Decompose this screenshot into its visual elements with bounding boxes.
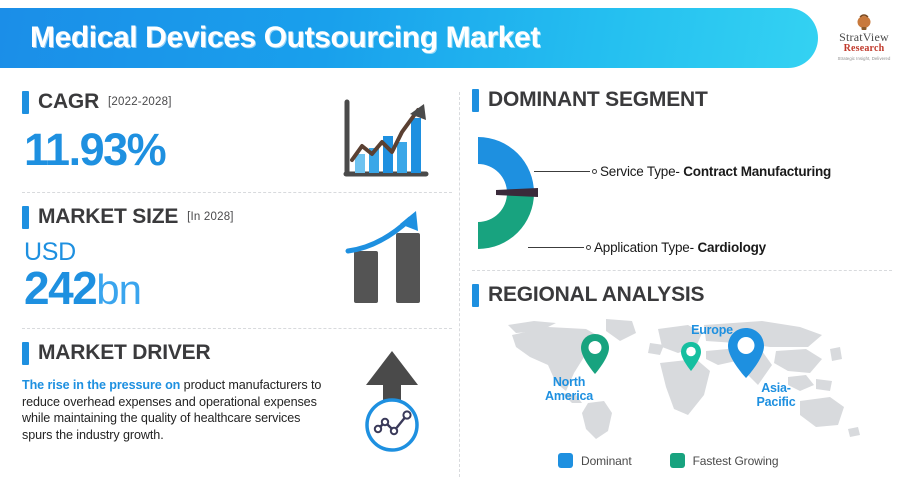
market-size-unit: bn (96, 266, 141, 313)
dominant-row-service-type: Service Type- Contract Manufacturing (534, 164, 831, 179)
logo-tagline: Strategic Insight, Delivered (826, 55, 902, 62)
left-column: CAGR [2022-2028] 11.93% MARKET SIZE [In … (22, 80, 452, 480)
regional-analysis-heading: REGIONAL ANALYSIS (472, 283, 892, 307)
legend-swatch-fastest-growing (670, 453, 685, 468)
dominant-segment-title: DOMINANT SEGMENT (488, 88, 708, 112)
market-size-amount: 242 (24, 262, 96, 314)
up-arrow-analytics-icon (352, 347, 432, 457)
growth-bar-chart-icon (338, 98, 430, 188)
regional-analysis-section: REGIONAL ANALYSIS (472, 271, 892, 471)
application-type-value: Cardiology (697, 240, 766, 255)
leader-line (528, 247, 584, 248)
legend-label-dominant: Dominant (581, 454, 632, 468)
accent-bar (22, 91, 29, 114)
regional-analysis-title: REGIONAL ANALYSIS (488, 283, 704, 307)
bar-growth-arrow-icon (338, 207, 438, 312)
region-label-line1: Asia- (761, 381, 791, 395)
legend-label-fastest-growing: Fastest Growing (693, 454, 779, 468)
leader-dot (586, 245, 591, 250)
market-driver-text: The rise in the pressure on product manu… (22, 377, 322, 443)
accent-bar (22, 342, 29, 365)
region-label-asia-pacific: Asia- Pacific (736, 381, 816, 409)
market-driver-title: MARKET DRIVER (38, 341, 210, 365)
logo-name: StratView (826, 31, 902, 43)
cagr-title: CAGR (38, 90, 99, 114)
map-pin-europe[interactable] (680, 341, 702, 377)
application-type-label: Application Type- Cardiology (594, 240, 766, 255)
page-title: Medical Devices Outsourcing Market (30, 21, 540, 55)
accent-bar (22, 206, 29, 229)
region-label-line1: North (553, 375, 585, 389)
market-driver-section: MARKET DRIVER The rise in the pressure o… (22, 329, 452, 469)
service-type-label: Service Type- Contract Manufacturing (600, 164, 831, 179)
region-label-line2: Pacific (757, 395, 796, 409)
legend-item-fastest-growing: Fastest Growing (670, 453, 779, 468)
service-type-value: Contract Manufacturing (683, 164, 831, 179)
cagr-period: [2022-2028] (108, 96, 172, 108)
service-type-key: Service Type- (600, 164, 683, 179)
market-size-period: [In 2028] (187, 211, 234, 223)
market-size-section: MARKET SIZE [In 2028] USD 242bn (22, 193, 452, 328)
leader-dot (592, 169, 597, 174)
legend-swatch-dominant (558, 453, 573, 468)
page-header: Medical Devices Outsourcing Market Strat… (0, 8, 907, 68)
column-divider (459, 92, 460, 477)
map-legend: Dominant Fastest Growing (472, 453, 892, 468)
application-type-key: Application Type- (594, 240, 697, 255)
dominant-segment-rows: Service Type- Contract Manufacturing App… (472, 134, 892, 264)
region-label-line2: America (545, 389, 593, 403)
dominant-segment-body: Service Type- Contract Manufacturing App… (472, 134, 892, 264)
accent-bar (472, 89, 479, 112)
region-label-north-america: North America (524, 375, 614, 403)
world-map: North America Europe Asia- Pacific (472, 313, 892, 443)
logo-lightbulb-icon (826, 14, 902, 31)
legend-item-dominant: Dominant (558, 453, 632, 468)
right-column: DOMINANT SEGMENT Ser (472, 80, 892, 480)
logo-subname: Research (826, 43, 902, 55)
accent-bar (472, 284, 479, 307)
market-driver-highlight: The rise in the pressure on (22, 378, 180, 392)
dominant-segment-section: DOMINANT SEGMENT Ser (472, 80, 892, 270)
company-logo: StratView Research Strategic Insight, De… (826, 14, 902, 66)
market-size-title: MARKET SIZE (38, 205, 178, 229)
dominant-segment-heading: DOMINANT SEGMENT (472, 88, 892, 112)
leader-line (534, 171, 590, 172)
map-pin-north-america[interactable] (580, 333, 610, 380)
dominant-row-application-type: Application Type- Cardiology (528, 240, 766, 255)
region-label-europe: Europe (672, 323, 752, 337)
cagr-section: CAGR [2022-2028] 11.93% (22, 80, 452, 192)
